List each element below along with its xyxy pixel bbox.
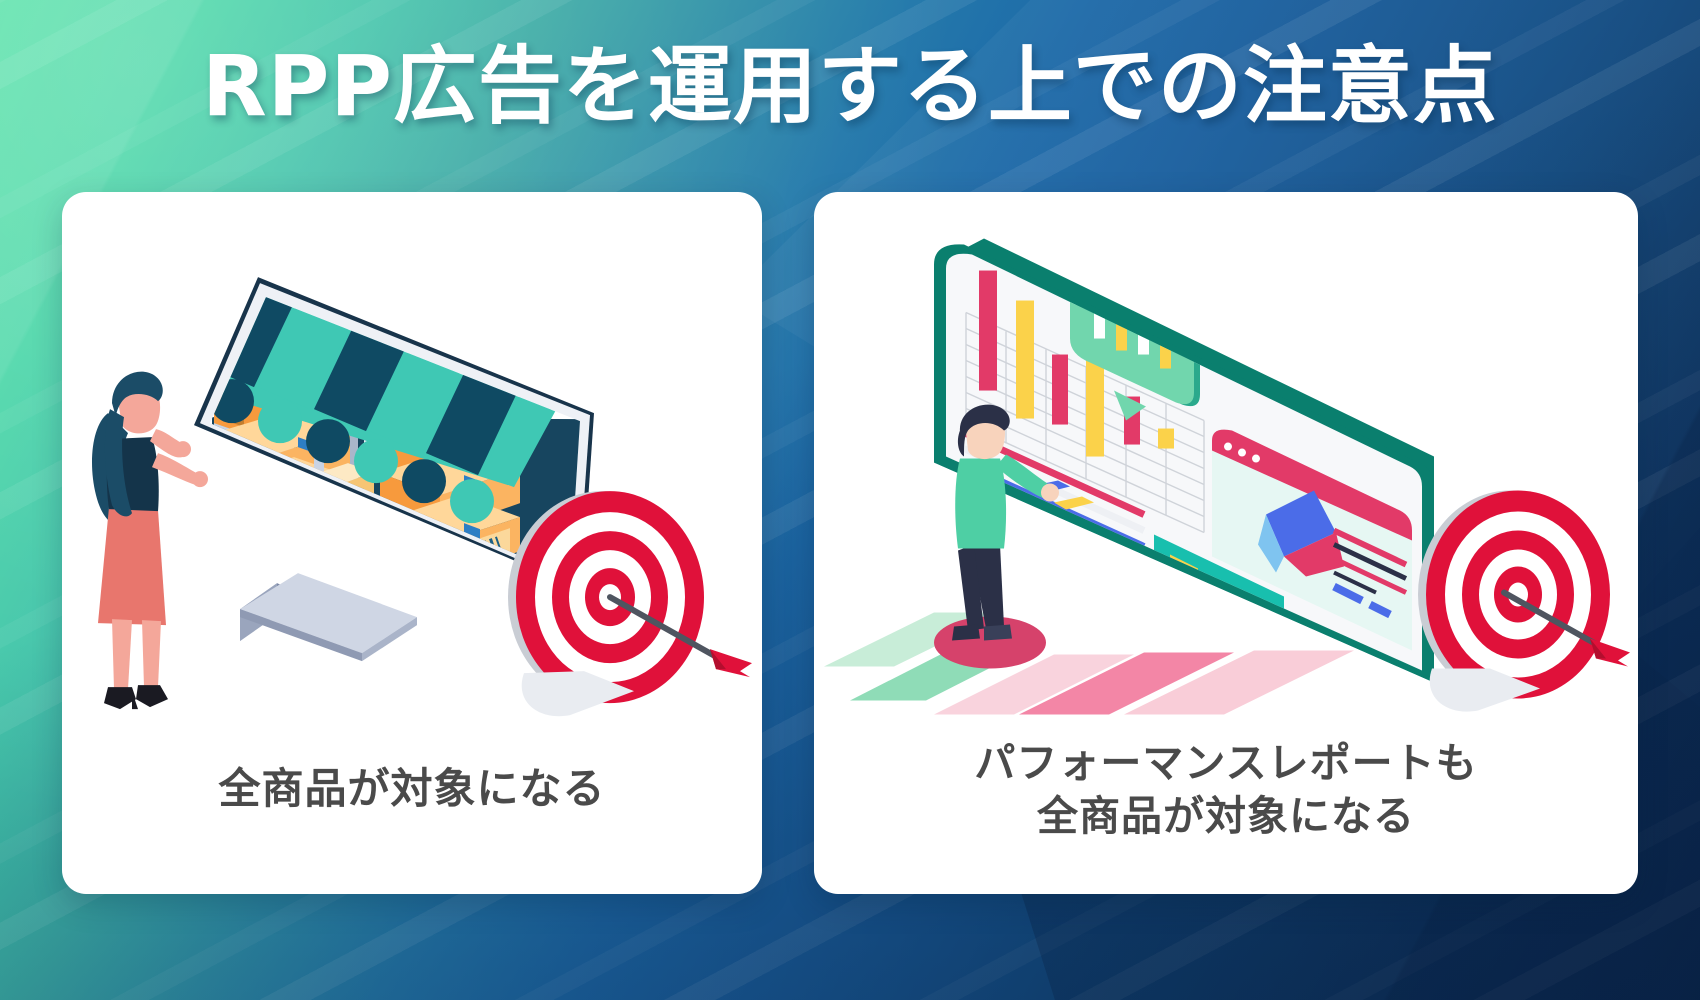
card-all-products[interactable]: 全商品が対象になる	[62, 192, 762, 894]
monitor-stand-icon	[240, 573, 417, 661]
page-title: RPP広告を運用する上での注意点	[0, 42, 1700, 130]
card-caption-performance-report: パフォーマンスレポートも 全商品が対象になる	[814, 737, 1638, 894]
shop-monitor-illustration	[62, 192, 762, 762]
card-caption-all-products: 全商品が対象になる	[62, 762, 762, 894]
card-row: 全商品が対象になる	[62, 192, 1638, 894]
woman-standing-icon	[92, 372, 208, 710]
illustration-dashboard-analytics-with-target	[814, 192, 1638, 737]
floor-stripes-icon	[824, 613, 1354, 715]
dartboard-target-icon	[508, 491, 704, 716]
illustration-shop-monitor-with-target	[62, 192, 762, 762]
dashboard-analytics-illustration	[814, 192, 1638, 737]
card-performance-report[interactable]: パフォーマンスレポートも 全商品が対象になる	[814, 192, 1638, 894]
